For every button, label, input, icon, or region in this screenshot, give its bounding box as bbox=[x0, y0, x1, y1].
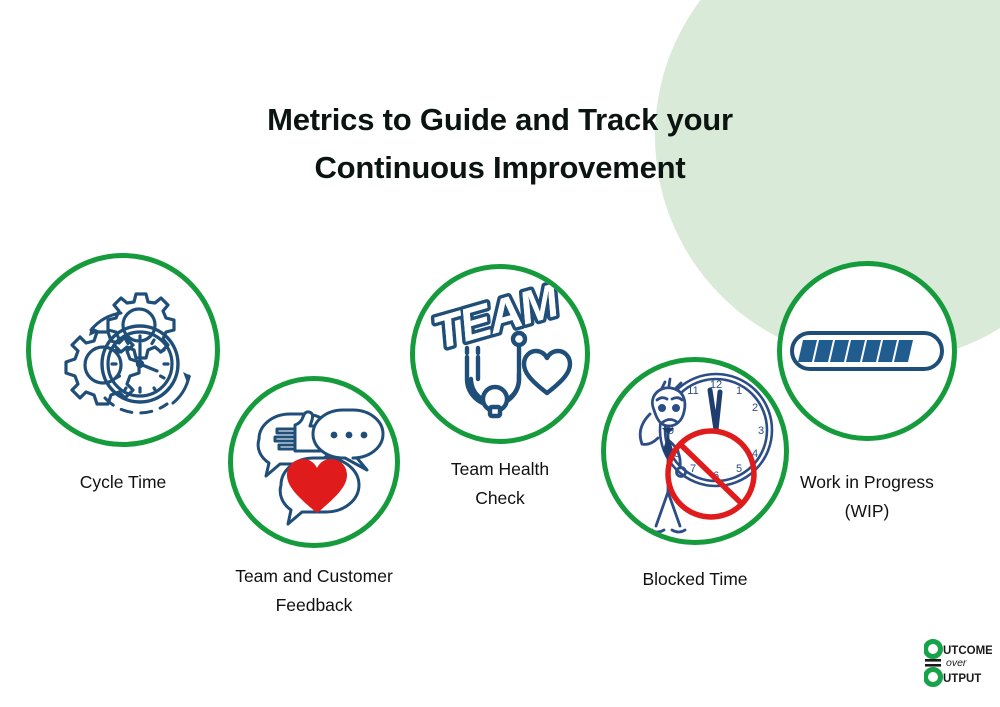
logo-text-outcome: UTCOME bbox=[943, 645, 992, 657]
metric-label-blocked-time: Blocked Time bbox=[585, 565, 805, 594]
logo-text-over: over bbox=[946, 657, 967, 669]
gears-clock-icon bbox=[31, 258, 215, 442]
svg-text:1: 1 bbox=[736, 385, 742, 397]
metric-circle-team-customer-feedback[interactable] bbox=[228, 376, 400, 548]
metric-circle-team-health-check[interactable]: TEAM TEAM bbox=[410, 264, 590, 444]
stick-figure-icon bbox=[640, 379, 685, 532]
metric-circle-cycle-time[interactable] bbox=[26, 253, 220, 447]
metric-circle-work-in-progress[interactable] bbox=[777, 261, 957, 441]
metric-label-work-in-progress: Work in Progress (WIP) bbox=[757, 468, 977, 526]
team-stethoscope-heart-icon: TEAM TEAM bbox=[415, 269, 585, 439]
svg-text:5: 5 bbox=[736, 463, 742, 475]
metric-label-team-customer-feedback: Team and Customer Feedback bbox=[178, 562, 450, 620]
page-title-line-1: Metrics to Guide and Track your bbox=[267, 102, 733, 137]
progress-bar-icon bbox=[782, 266, 952, 436]
svg-text:2: 2 bbox=[752, 402, 758, 414]
svg-text:11: 11 bbox=[687, 385, 698, 397]
logo-mark: UTCOME over UTPUT bbox=[924, 639, 992, 687]
metric-label-cycle-time: Cycle Time bbox=[6, 468, 240, 497]
logo-text-output: UTPUT bbox=[943, 673, 981, 685]
page-title-line-2: Continuous Improvement bbox=[0, 144, 1000, 192]
infographic-canvas: Metrics to Guide and Track your Continuo… bbox=[0, 0, 1000, 707]
metric-label-team-health-check: Team Health Check bbox=[390, 455, 610, 513]
speech-bubbles-thumbs-up-heart-icon bbox=[233, 381, 395, 543]
logo-outcome-over-output[interactable]: UTCOME over UTPUT bbox=[924, 639, 992, 687]
svg-text:3: 3 bbox=[758, 425, 764, 437]
svg-text:TEAM: TEAM bbox=[427, 273, 565, 359]
page-title: Metrics to Guide and Track your Continuo… bbox=[0, 96, 1000, 192]
team-wordart: TEAM TEAM bbox=[427, 273, 565, 359]
svg-text:7: 7 bbox=[690, 463, 696, 475]
